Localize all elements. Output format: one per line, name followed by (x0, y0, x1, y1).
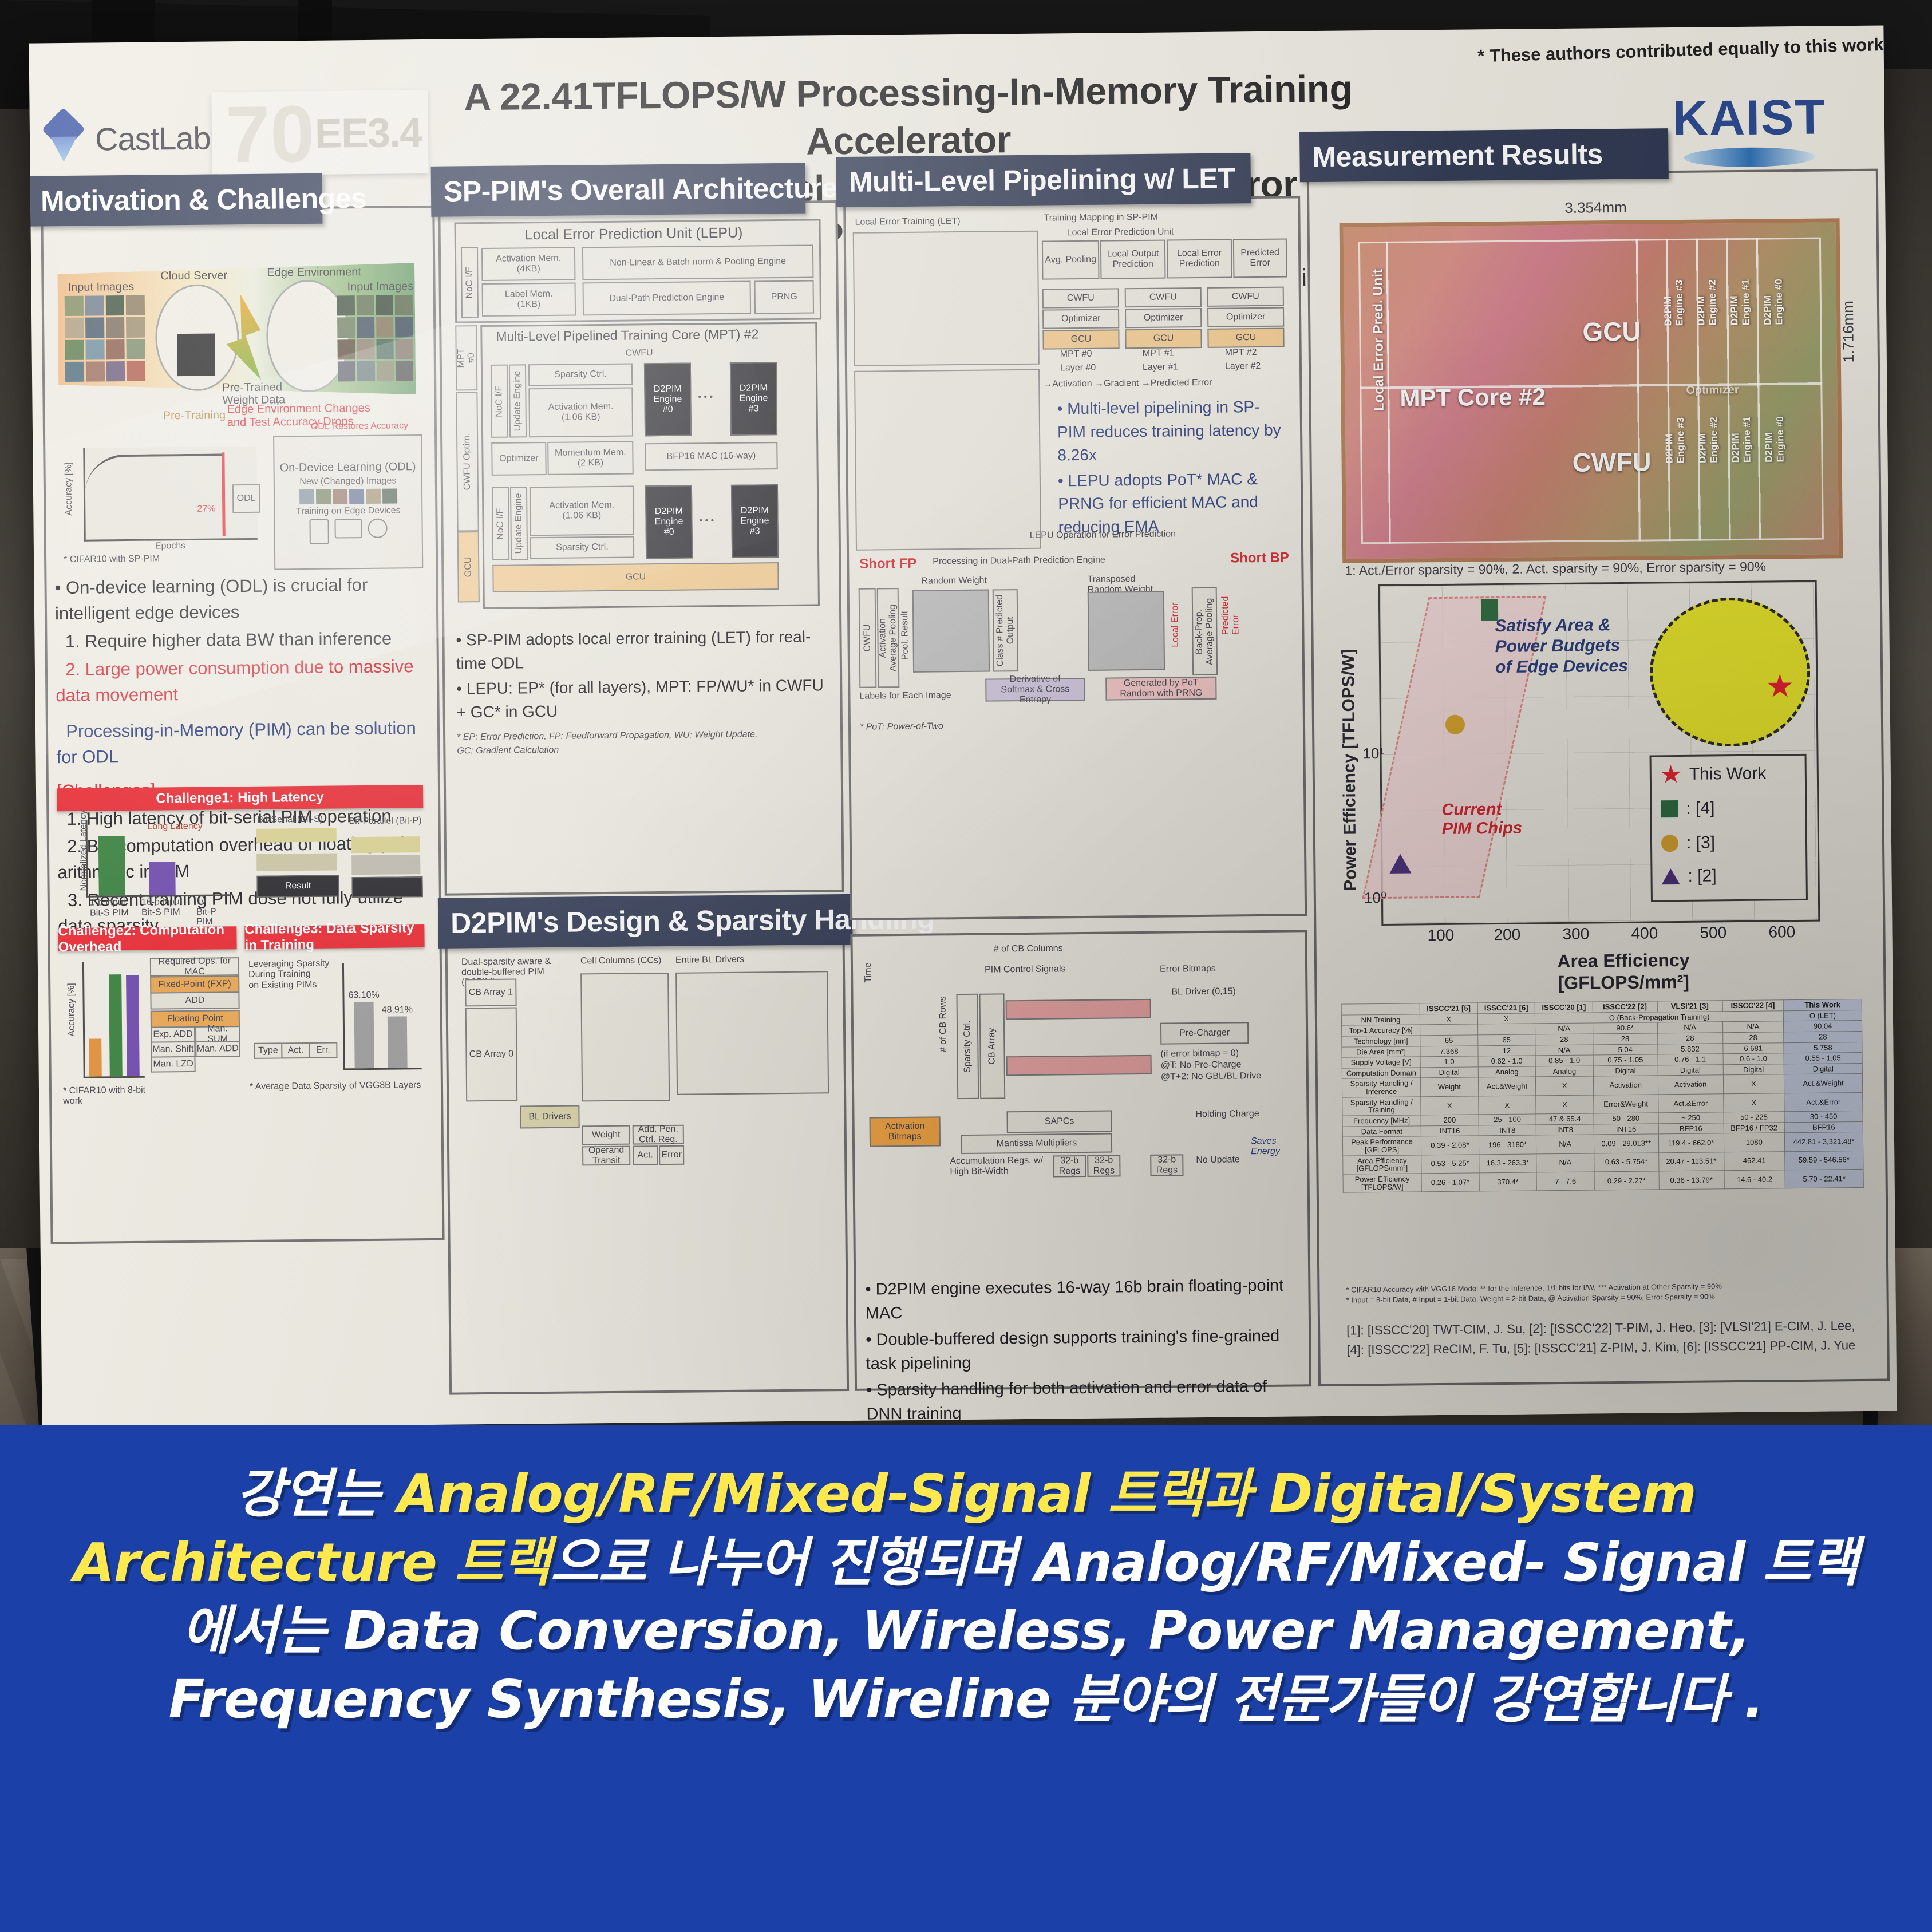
legend-triangle-icon (1661, 868, 1680, 884)
row-label: Power Efficiency [TFLOPS/W] (1343, 1174, 1421, 1193)
dualpath-pool-result: Pool. Result (900, 611, 911, 660)
bit-serial-block2 (256, 854, 337, 871)
row-label: Data Format (1342, 1126, 1421, 1137)
castlab-label: CastLab (95, 119, 211, 157)
server-rack-icon (177, 334, 215, 377)
ops-table-title: Required Ops. for MAC (150, 957, 239, 976)
pipelining-cwfu-2: CWFU (1207, 287, 1284, 307)
conference-poster: CastLab 70 EE3.4 A 22.41TFLOPS/W Process… (29, 26, 1897, 1429)
d2pim-cb-array-1: CB Array 1 (465, 979, 516, 1007)
pipelining-local-output-pred: Local Output Prediction (1100, 240, 1166, 279)
lepu-noc-if: NoC I/F (461, 247, 479, 318)
d2pim-note-0: (if error bitmap = 0) (1160, 1048, 1239, 1059)
dualpath-softmax-deriv: Derivative of Softmax & Cross Entropy (985, 678, 1085, 702)
pipelining-bullet-0: • Multi-level pipelining in SP-PIM reduc… (1057, 396, 1286, 468)
lepu-prng: PRNG (754, 280, 815, 314)
cloud-server-label: Cloud Server (160, 269, 227, 283)
d2pim-sapcs: SAPCs (1006, 1111, 1112, 1133)
d2pim-reg-2: 32-b Regs (1150, 1154, 1183, 1176)
d2pim-no-update: No Update (1196, 1155, 1240, 1165)
d2pim-act: Act. (633, 1145, 658, 1165)
odl-box: On-Device Learning (ODL) New (Changed) I… (273, 434, 423, 570)
motivation-diagram: Input Images Cloud Server Pre-Trained We… (54, 240, 420, 432)
lepu-block: Local Error Prediction Unit (LEPU) NoC I… (454, 219, 821, 323)
pipelining-gcu-0: GCU (1042, 329, 1119, 349)
challenge3-banner: Challenge3: Data Sparsity in Training (244, 924, 424, 949)
scatter-xtick-600: 600 (1768, 923, 1795, 941)
pipelining-let-graph (853, 231, 1040, 366)
scatter-ytick-0: 10⁰ (1364, 889, 1387, 907)
die-width-label: 3.354mm (1564, 199, 1627, 217)
row-label: Peak Performance [GFLOPS] (1342, 1136, 1421, 1156)
d2pim-time-label: Time (863, 963, 874, 983)
caption-line5: 전문가들이 강연합니다 . (1230, 1669, 1763, 1730)
challenge1-chart: Normalized Latency Long Latency 1-b inpu… (62, 815, 247, 920)
d2pim-reg-1: 32-b Regs (1087, 1155, 1120, 1177)
mpt-momentum-mem-top: Momentum Mem. (2 KB) (547, 441, 634, 475)
pipelining-dualpath-diagram: CWFU Activation Average Pooling Random W… (858, 573, 1289, 720)
lepu-dualpath-engine: Dual-Path Prediction Engine (583, 281, 752, 316)
legend-label-4: : [4] (1686, 799, 1714, 818)
ops-row-fxp: Fixed-Point (FXP) (150, 975, 239, 993)
d2pim-reg-0: 32-b Regs (1053, 1155, 1086, 1178)
d2pim-error-bitmaps-label: Error Bitmaps (1160, 964, 1216, 975)
castlab-diamond-icon (44, 112, 85, 167)
ops-row-manadd: Man. ADD (195, 1041, 240, 1057)
dualpath-cwfu: CWFU (859, 588, 877, 688)
pipelining-legend: →Activation →Gradient →Predicted Error (1043, 378, 1212, 390)
caption-line2-white: 으로 나누어 진행되며 Analog/RF/Mixed- (550, 1532, 1546, 1593)
d2pim-engine-0-bot: D2PIM Engine #0 (645, 485, 693, 559)
legend-label-3: : [3] (1686, 833, 1715, 852)
panel-pipelining-title: Multi-Level Pipelining w/ LET (836, 153, 1251, 207)
d2pim-bl-drivers: BL Drivers (520, 1105, 579, 1128)
input-images-left (65, 295, 145, 382)
th-5: VLSI'21 [3] (1657, 1001, 1722, 1012)
pipelining-layer-0: Layer #0 (1060, 363, 1096, 374)
odl-device-icons (309, 518, 387, 544)
d2pim-diagram: Dual-sparsity aware & double-buffered PI… (459, 951, 835, 1373)
die-grid-overlay (1358, 238, 1824, 544)
odl-marker: ODL (232, 484, 260, 513)
challenge3-err-header: Err. (309, 1042, 337, 1058)
d2pim-weight-reg: Weight (582, 1125, 630, 1145)
challenge3-bar-1 (388, 1016, 408, 1068)
cwfu-optim-side: CWFU Optim. (456, 392, 479, 531)
th-2: ISSCC'21 [6] (1477, 1002, 1535, 1014)
accuracy-xlabel: Epochs (155, 541, 186, 552)
panel-measurement-title: Measurement Results (1299, 128, 1669, 182)
d2pim-engine-3-bot: D2PIM Engine #3 (731, 484, 779, 558)
challenge3-type-header: Type (254, 1042, 282, 1058)
legend-item-thiswork: This Work (1661, 764, 1767, 785)
row-label: Technology [nm] (1342, 1036, 1420, 1047)
d2pim-err: Error (659, 1145, 684, 1165)
d2pim-accum-regs: Accumulation Regs. w/ High Bit-Width (950, 1156, 1053, 1177)
pipelining-mapping-title: Training Mapping in SP-PIM (1044, 212, 1158, 224)
th-4: ISSCC'22 [2] (1593, 1001, 1657, 1013)
pipelining-cwfu-0: CWFU (1042, 288, 1119, 308)
challenge3-act-header: Act. (281, 1042, 310, 1058)
dualpath-trw-matrix (1088, 591, 1165, 671)
lepu-nonlinear-engine: Non-Linear & Batch norm & Pooling Engine (582, 244, 814, 280)
legend-circle-icon (1661, 835, 1678, 852)
scatter-xtick-400: 400 (1631, 924, 1658, 942)
dualpath-class-pred: Class # Predicted Output (993, 589, 1018, 671)
row-label: Die Area [mm²] (1342, 1046, 1420, 1057)
dualpath-labels-images: Labels for Each Image (859, 690, 951, 702)
d2pim-label-1: Cell Columns (CCs) (580, 955, 662, 966)
legend-item-3: : [3] (1661, 833, 1715, 853)
pipelining-bullets: • Multi-level pipelining in SP-PIM reduc… (1057, 396, 1287, 542)
pipelining-mpt-2: MPT #2 (1225, 347, 1257, 358)
pipelining-gcu-1: GCU (1125, 329, 1202, 349)
pipelining-lepu-title: Local Error Prediction Unit (1067, 227, 1174, 238)
accuracy-ylabel: Accuracy [%] (64, 462, 74, 516)
mpt-optimizer-top: Optimizer (491, 442, 547, 476)
mpt-block: MPT #0 CWFU Optim. GCU Multi-Level Pipel… (455, 322, 821, 611)
dualpath-local-error: Local Error (1170, 602, 1181, 647)
challenge2-banner: Challenge2: Computation Overhead (58, 926, 236, 951)
challenge1-xtick-1: 16-b input Bit-S PIM (141, 897, 183, 918)
pipelining-footnote: * PoT: Power-of-Two (860, 721, 943, 732)
motivation-bullet-3: Processing-in-Memory (PIM) can be soluti… (56, 716, 428, 771)
pipelining-layer-2: Layer #2 (1225, 361, 1261, 372)
panel-d2pim-title: D2PIM's Design & Sparsity Handling (438, 894, 853, 949)
th-0 (1341, 1003, 1420, 1015)
row-label: Sparsity Handling / Training (1342, 1097, 1421, 1116)
d2pim-bullet-1: • Double-buffered design supports traini… (866, 1324, 1295, 1376)
challenge3-chart: Leveraging Sparsity During Training on E… (247, 955, 427, 1106)
challenge2-footnote: * CIFAR10 with 8-bit work (63, 1085, 149, 1107)
d2pim-engine-3-top: D2PIM Engine #3 (730, 362, 777, 436)
input-images-left-label: Input Images (68, 280, 134, 294)
screenshot-root: CastLab 70 EE3.4 A 22.41TFLOPS/W Process… (0, 0, 1932, 1932)
pretraining-label: Pre-Training (163, 409, 226, 422)
mpt-activation-mem-bot: Activation Mem. (1.06 KB) (530, 486, 634, 536)
mpt-core: Multi-Level Pipelined Training Core (MPT… (480, 322, 820, 609)
mpt-noc-if-bot: NoC I/F (492, 487, 509, 560)
dualpath-act-avgpool: Activation Average Pooling (877, 588, 900, 688)
bit-parallel-label: Bit-Parallel (Bit-P) (349, 816, 421, 827)
legend-label-2: : [2] (1688, 866, 1716, 886)
challenge2-bar-1 (109, 974, 123, 1076)
challenge1-bar-1 (149, 862, 176, 895)
challenge2-table: Required Ops. for MAC Fixed-Point (FXP) … (150, 957, 239, 1101)
challenge1-banner: Challenge1: High Latency (57, 785, 423, 811)
d2pim-mantissa-mult: Mantissa Multipliers (961, 1133, 1112, 1155)
d2pim-note-2: @T+2: No GBL/BL Drive (1161, 1071, 1261, 1082)
mpt-sparsity-ctrl-top: Sparsity Ctrl. (528, 364, 633, 386)
motivation-bullet-0: • On-device learning (ODL) is crucial fo… (54, 572, 426, 627)
edge-env-label: Edge Environment (267, 266, 361, 280)
motivation-bullet-2: 2. Large power consumption due to massiv… (56, 654, 427, 709)
pipelining-mpt-0: MPT #0 (1060, 349, 1092, 360)
mpt-0-side: MPT #0 (455, 325, 477, 390)
row-label: Area Efficiency [GFLOPS/mm²] (1343, 1155, 1421, 1174)
die-photo: Local Error Pred. Unit MPT Core #2 GCU C… (1340, 218, 1843, 563)
challenge1-bar-0 (98, 836, 125, 895)
row-label: Top-1 Accuracy [%] (1342, 1025, 1420, 1036)
pipelining-let-label: Local Error Training (LET) (855, 216, 960, 228)
scatter-ytick-1: 10¹ (1362, 745, 1384, 762)
row-label: Computation Domain (1342, 1068, 1420, 1079)
comparison-table: ISSCC'21 [5] ISSCC'21 [6] ISSCC'20 [1] I… (1341, 999, 1864, 1193)
input-images-right (337, 295, 413, 381)
d2pim-pre-charger: Pre-Charger (1160, 1022, 1249, 1044)
pipelining-bullet-1: • LEPU adopts PoT* MAC & PRNG for effici… (1058, 467, 1287, 539)
mpt-gcu: GCU (492, 562, 779, 592)
pipelining-dual-path-title: Processing in Dual-Path Prediction Engin… (933, 555, 1105, 567)
pipelining-avg-pooling: Avg. Pooling (1042, 240, 1100, 280)
dualpath-prng-note: Generated by PoT Random with PRNG (1105, 677, 1216, 701)
cwfu-label: CWFU (626, 348, 653, 358)
mpt-title: Multi-Level Pipelined Training Core (MPT… (496, 326, 758, 344)
odl-restore-label: ODL Restores Accuracy (311, 421, 408, 432)
panel-architecture-title: SP-PIM's Overall Architecture (431, 163, 806, 217)
challenge1-diagram: Bit-Serial (Bit-S) Bit-Parallel (Bit-P) … (254, 813, 426, 918)
challenge1-ylabel: Normalized Latency (78, 810, 89, 891)
dualpath-backprop-pool: Back-Prop. Average Pooling (1192, 587, 1218, 675)
dualpath-predicted-error: Predicted Error (1220, 596, 1242, 635)
scatter-xlabel: Area Efficiency [GFLOPS/mm²] (1503, 949, 1744, 995)
pipelining-predicted-error: Predicted Error (1233, 239, 1287, 278)
d2pim-cb-array: CB Array (979, 993, 1005, 1099)
legend-item-2: : [2] (1661, 866, 1716, 886)
caption-line2-yellow: Architecture 트랙 (74, 1532, 551, 1593)
die-height-label: 1.716mm (1839, 301, 1858, 363)
legend-label-thiswork: This Work (1689, 764, 1767, 784)
scatter-xtick-300: 300 (1562, 925, 1589, 943)
motivation-bullet-1: 1. Require higher data BW than inference (55, 626, 426, 655)
odl-subtitle: New (Changed) Images (299, 476, 396, 487)
pipelining-short-bp: Short BP (1230, 550, 1289, 567)
accuracy-drop-label: 27% (197, 504, 215, 515)
bit-serial-result: Result (256, 875, 339, 897)
challenge1-note: Long Latency (148, 821, 203, 832)
d2pim-bullets: • D2PIM engine executes 16-way 16b brain… (865, 1273, 1296, 1428)
pipelining-gcu-2: GCU (1207, 328, 1284, 348)
input-images-right-label: Input Images (347, 280, 413, 294)
challenge3-value-0: 63.10% (348, 990, 379, 1001)
d2pim-label-2: Entire BL Drivers (675, 955, 744, 966)
challenge2-bar-2 (126, 975, 140, 1076)
edge-budget-ellipse (1649, 597, 1811, 748)
caption-line1-yellow: Analog/RF/Mixed-Signal 트랙과 Digital/Syste… (397, 1463, 1696, 1524)
caption-text: 강연는 Analog/RF/Mixed-Signal 트랙과 Digital/S… (52, 1460, 1880, 1733)
challenge2-bar-0 (89, 1038, 102, 1076)
d2pim-sparsity-ctrl: Sparsity Ctrl. (956, 994, 979, 1099)
pipelining-local-error-pred: Local Error Prediction (1167, 239, 1232, 278)
isscc-badge-code: EE3.4 (315, 109, 422, 157)
d2pim-cb-rows-label: # of CB Rows (938, 996, 949, 1052)
th-7: This Work (1783, 999, 1862, 1010)
architecture-bullet-0: • SP-PIM adopts local error training (LE… (456, 625, 828, 675)
challenge2-chart: Accuracy [%] * CIFAR10 with 8-bit work (62, 958, 149, 1108)
scatter-ylabel: Power Efficiency [TFLOPS/W] (1339, 647, 1559, 891)
d2pim-right-diagram: # of CB Columns PIM Control Signals Erro… (862, 942, 1294, 1266)
th-1: ISSCC'21 [5] (1420, 1003, 1477, 1014)
ops-row-manshift: Man. Shift (151, 1041, 195, 1058)
accuracy-curve (84, 453, 222, 537)
challenge1-xtick-0: 1-b input Bit-S PIM (90, 898, 129, 918)
pipelining-cwfu-1: CWFU (1125, 287, 1202, 307)
architecture-bullets: • SP-PIM adopts local error training (LE… (456, 625, 829, 757)
th-6: ISSCC'22 [4] (1722, 1000, 1784, 1012)
row-label: Frequency [MHz] (1342, 1115, 1421, 1127)
d2pim-activation-bitmaps: Activation Bitmaps (870, 1116, 941, 1147)
pipelining-timeline (854, 369, 1041, 551)
dualpath-rw-matrix (912, 590, 990, 673)
d2pim-ellipsis-top: • • • (698, 392, 713, 402)
bit-serial-block (256, 828, 337, 843)
challenge3-value-1: 48.91% (382, 1005, 413, 1016)
ops-row-manlzd: Man. LZD (151, 1056, 195, 1073)
d2pim-op-transit: Operand Transit (582, 1146, 630, 1166)
ops-row-mansum: Man. SUM (195, 1026, 240, 1042)
d2pim-cb-array-0: CB Array 0 (465, 1008, 518, 1102)
panel-motivation-title: Motivation & Challenges (29, 173, 322, 227)
pipelining-lepu-op-title: LEPU Operation for Error Prediction (1030, 529, 1176, 540)
dualpath-random-weight: Random Weight (921, 576, 987, 587)
scatter-xtick-200: 200 (1494, 926, 1520, 944)
d2pim-engine-0-top: D2PIM Engine #0 (644, 363, 692, 437)
ops-row-expadd: Exp. ADD (151, 1026, 195, 1043)
kaist-logo: KAIST (1672, 89, 1826, 168)
d2pim-saves-energy: Saves Energy (1251, 1136, 1293, 1157)
pipelining-short-fp: Short FP (859, 556, 916, 572)
gcu-side: GCU (457, 531, 480, 602)
th-3: ISSCC'20 [1] (1535, 1002, 1593, 1013)
d2pim-bullet-0: • D2PIM engine executes 16-way 16b brain… (865, 1273, 1295, 1325)
legend-square-icon (1661, 800, 1678, 817)
lepu-activation-mem: Activation Mem. (4KB) (481, 247, 576, 281)
lepu-title: Local Error Prediction Unit (LEPU) (525, 225, 743, 244)
odl-title: On-Device Learning (ODL) (280, 460, 416, 475)
pipelining-optimizer-2: Optimizer (1207, 307, 1284, 327)
mpt-sparsity-ctrl-bot: Sparsity Ctrl. (530, 536, 634, 559)
bit-parallel-block2 (351, 855, 420, 875)
pipelining-optimizer-0: Optimizer (1042, 309, 1119, 329)
d2pim-cb-columns-label: # of CB Columns (994, 943, 1063, 954)
scatter-xtick-500: 500 (1700, 923, 1726, 942)
isscc-badge-number: 70 (225, 88, 315, 181)
mpt-update-engine-top: Update Engine (509, 364, 527, 437)
row-label: NN Training (1341, 1014, 1420, 1026)
pipelining-mpt-1: MPT #1 (1143, 348, 1175, 359)
pipelining-map: Avg. Pooling Local Output Prediction Loc… (1042, 239, 1290, 413)
d2pim-bl-drivers2 (675, 971, 829, 1095)
challenge3-bar-0 (354, 1002, 374, 1068)
mpt-update-engine-bot: Update Engine (510, 487, 528, 560)
mpt-activation-mem-top: Activation Mem. (1.06 KB) (528, 388, 633, 438)
scatter-legend: This Work : [4] : [3] : [2] (1650, 754, 1808, 902)
mpt-noc-if-top: NoC I/F (491, 365, 508, 438)
legend-star-icon (1661, 765, 1681, 784)
challenge3-title: Leveraging Sparsity During Training on E… (248, 959, 335, 991)
d2pim-bl-driver-box (1006, 999, 1151, 1020)
bit-parallel-result (351, 876, 422, 898)
bit-parallel-block (351, 836, 420, 853)
lepu-label-mem: Label Mem. (1KB) (482, 282, 576, 317)
d2pim-holding-charge: Holding Charge (1195, 1109, 1259, 1120)
caption-banner: 강연는 Analog/RF/Mixed-Signal 트랙과 Digital/S… (0, 1425, 1932, 1932)
d2pim-bl-driver-label: BL Driver (0,15) (1171, 986, 1235, 997)
challenge3-footnote: * Average Data Sparsity of VGG8B Layers (250, 1080, 421, 1092)
accuracy-footnote: * CIFAR10 with SP-PIM (64, 554, 160, 565)
kaist-swoosh-icon (1684, 147, 1815, 168)
mpt-bfp16-mac-top: BFP16 MAC (16-way) (645, 442, 777, 471)
ops-row-add: ADD (150, 991, 239, 1009)
d2pim-note-1: @T: No Pre-Charge (1161, 1060, 1242, 1070)
pipelining-optimizer-1: Optimizer (1125, 308, 1202, 328)
odl-image-row (299, 488, 397, 504)
pipelining-layer-1: Layer #1 (1143, 362, 1178, 373)
kaist-wordmark: KAIST (1672, 89, 1826, 147)
bit-serial-label: Bit-Serial (Bit-S) (257, 815, 323, 825)
challenge2-ylabel: Accuracy [%] (66, 983, 77, 1037)
d2pim-ellipsis-bot: • • • (699, 516, 714, 526)
row-label: Supply Voltage [V] (1342, 1057, 1420, 1068)
castlab-logo: CastLab (44, 110, 211, 167)
accuracy-chart: 27% Accuracy [%] Epochs * CIFAR10 with S… (57, 442, 270, 559)
isscc-badge: 70 EE3.4 (211, 90, 428, 176)
d2pim-add-pen-ctrl: Add. Pen. Ctrl. Reg. (633, 1125, 684, 1145)
scatter-xtick-100: 100 (1427, 926, 1454, 945)
row-label: Sparsity Handling / Inference (1342, 1078, 1420, 1097)
equal-contribution-note: * These authors contributed equally to t… (1368, 34, 1884, 70)
d2pim-cell-columns (580, 973, 670, 1101)
d2pim-pim-ctrl-label: PIM Control Signals (985, 964, 1066, 975)
d2pim-bl-driver-box2 (1006, 1055, 1152, 1076)
architecture-bullet-1: • LEPU: EP* (for all layers), MPT: FP/WU… (456, 674, 829, 724)
caption-line1-white: 강연는 (236, 1463, 397, 1524)
legend-item-4: : [4] (1661, 799, 1714, 819)
odl-caption: Training on Edge Devices (296, 505, 401, 517)
